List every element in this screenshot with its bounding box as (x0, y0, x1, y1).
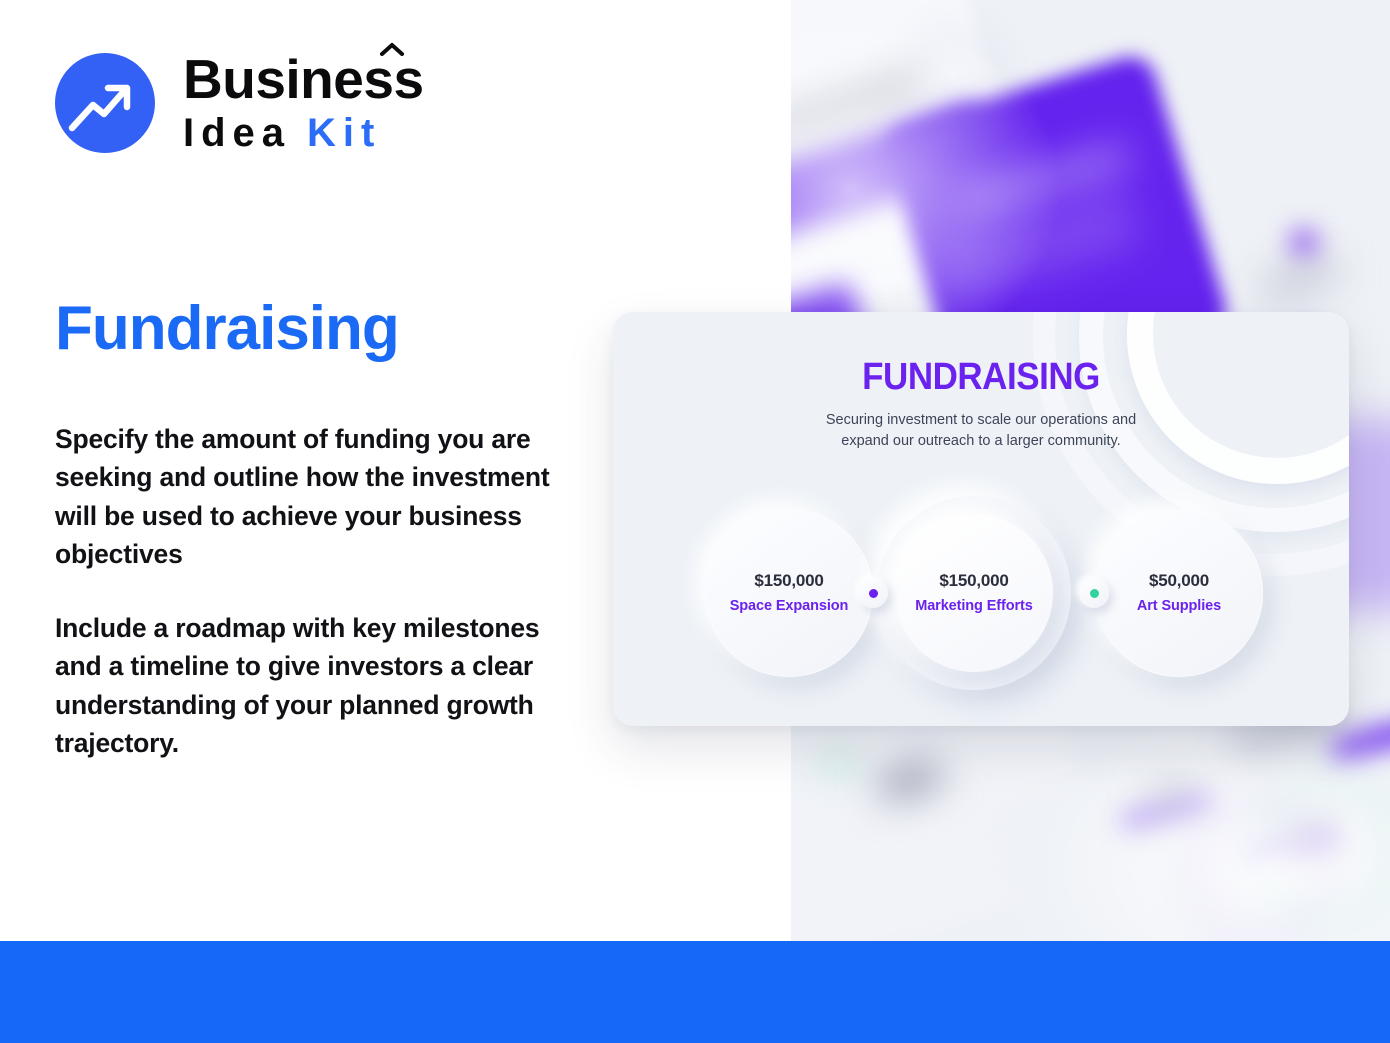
funding-amount: $50,000 (1149, 571, 1209, 591)
brand-name-line1-text: Business (183, 48, 424, 110)
funding-circle-marketing-efforts[interactable]: $150,000 Marketing Efforts (865, 484, 1083, 702)
bg-text-blur (1261, 260, 1340, 297)
footer-bar (0, 941, 1390, 1043)
connector-dot-purple (869, 589, 878, 598)
connector-knob-left (858, 578, 888, 608)
bg-dot (1291, 230, 1317, 256)
growth-arrow-icon (55, 53, 155, 153)
funding-amount: $150,000 (939, 571, 1008, 591)
description-paragraph-2: Include a roadmap with key milestones an… (55, 609, 575, 763)
connector-dot-green (1090, 589, 1099, 598)
bg-dot (831, 755, 847, 771)
funding-circle-space-expansion[interactable]: $150,000 Space Expansion (705, 509, 873, 677)
card-subtitle-line2: expand our outreach to a larger communit… (841, 433, 1120, 449)
funding-circles-group: $150,000 Space Expansion $50,000 Art Sup… (613, 494, 1349, 712)
brand-wordmark: Business Idea Kit (183, 52, 424, 153)
center-circle-face: $150,000 Marketing Efforts (895, 514, 1053, 672)
brand-name-line2: Idea Kit (183, 113, 424, 153)
brand-logo[interactable]: Business Idea Kit (55, 52, 424, 153)
brand-name-idea: Idea (183, 113, 291, 153)
funding-label: Space Expansion (730, 598, 849, 615)
circumflex-accent-icon (379, 42, 405, 56)
slide-page: Business Idea Kit Fundraising Specify th… (0, 0, 1390, 1043)
connector-knob-right (1079, 578, 1109, 608)
card-title: FUNDRAISING (642, 356, 1319, 399)
fundraising-slide-card[interactable]: FUNDRAISING Securing investment to scale… (613, 312, 1349, 726)
brand-name-line1: Business (183, 52, 424, 107)
page-title: Fundraising (55, 296, 399, 361)
funding-label: Art Supplies (1137, 598, 1221, 615)
bg-ring (1257, 778, 1390, 920)
card-subtitle: Securing investment to scale our operati… (613, 410, 1349, 452)
funding-label: Marketing Efforts (915, 598, 1033, 615)
bg-ring (909, 32, 997, 120)
brand-name-kit: Kit (307, 113, 381, 153)
funding-circle-art-supplies[interactable]: $50,000 Art Supplies (1095, 509, 1263, 677)
funding-amount: $150,000 (754, 571, 823, 591)
description-paragraph-1: Specify the amount of funding you are se… (55, 420, 575, 574)
card-subtitle-line1: Securing investment to scale our operati… (826, 412, 1136, 428)
